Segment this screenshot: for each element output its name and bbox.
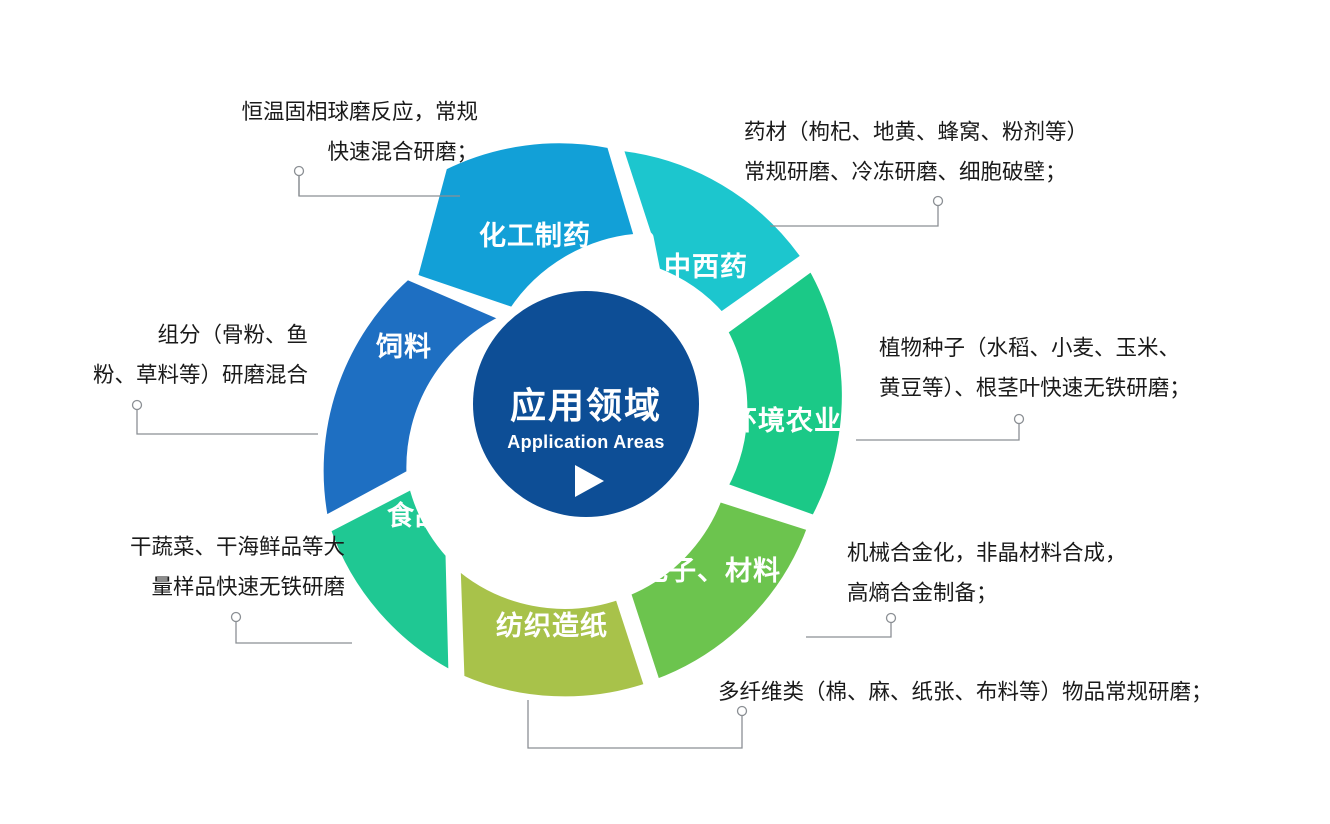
callout-line-medicine	[770, 203, 938, 226]
callout-dot-feed	[133, 401, 142, 410]
note-feed-line1: 组分（骨粉、鱼	[36, 315, 308, 355]
callout-line-food	[236, 619, 352, 643]
segment-label-agriculture: 环境农业	[730, 406, 842, 436]
segment-label-textile: 纺织造纸	[496, 610, 608, 641]
segment-label-material: 电子、材料	[641, 556, 781, 586]
note-medicine-line1: 药材（枸杞、地黄、蜂窝、粉剂等）	[744, 112, 1164, 152]
center-title-en: Application Areas	[507, 432, 664, 452]
note-agriculture-line2: 黄豆等）、根茎叶快速无铁研磨；	[879, 368, 1259, 408]
callout-line-agriculture	[856, 421, 1019, 440]
note-chem-line2: 快速混合研磨；	[186, 132, 478, 172]
callout-line-feed	[137, 407, 318, 434]
segment-label-feed: 饲料	[375, 332, 432, 362]
note-feed: 组分（骨粉、鱼 粉、草料等）研磨混合	[36, 315, 308, 395]
note-medicine: 药材（枸杞、地黄、蜂窝、粉剂等） 常规研磨、冷冻研磨、细胞破壁；	[744, 112, 1164, 192]
note-chem-line1: 恒温固相球磨反应，常规	[186, 92, 478, 132]
note-agriculture-line1: 植物种子（水稻、小麦、玉米、	[879, 328, 1259, 368]
center-title-cn: 应用领域	[510, 385, 662, 426]
infographic-canvas: 化工制药 中西药 环境农业 电子、材料 纺织造纸 食品 饲料 应用领域 Appl…	[0, 0, 1330, 824]
segment-label-medicine: 中西药	[664, 252, 748, 282]
callout-line-textile	[528, 700, 742, 748]
callout-dot-material	[887, 614, 896, 623]
note-medicine-line2: 常规研磨、冷冻研磨、细胞破壁；	[744, 152, 1164, 192]
callout-dot-medicine	[934, 197, 943, 206]
note-textile-line1: 多纤维类（棉、麻、纸张、布料等）物品常规研磨；	[718, 672, 1288, 712]
note-material-line2: 高熵合金制备；	[847, 573, 1187, 613]
callout-dot-agriculture	[1015, 415, 1024, 424]
segment-label-chem: 化工制药	[479, 221, 591, 251]
note-chem: 恒温固相球磨反应，常规 快速混合研磨；	[186, 92, 478, 172]
segment-material[interactable]	[626, 497, 812, 684]
segment-label-food: 食品	[387, 500, 443, 531]
note-material: 机械合金化，非晶材料合成， 高熵合金制备；	[847, 533, 1187, 613]
note-food: 干蔬菜、干海鲜品等大 量样品快速无铁研磨	[70, 527, 345, 607]
callout-line-material	[806, 620, 891, 637]
callout-dot-food	[232, 613, 241, 622]
note-feed-line2: 粉、草料等）研磨混合	[36, 355, 308, 395]
note-material-line1: 机械合金化，非晶材料合成，	[847, 533, 1187, 573]
note-food-line2: 量样品快速无铁研磨	[70, 567, 345, 607]
note-food-line1: 干蔬菜、干海鲜品等大	[70, 527, 345, 567]
note-agriculture: 植物种子（水稻、小麦、玉米、 黄豆等）、根茎叶快速无铁研磨；	[879, 328, 1259, 408]
note-textile: 多纤维类（棉、麻、纸张、布料等）物品常规研磨；	[718, 672, 1288, 712]
